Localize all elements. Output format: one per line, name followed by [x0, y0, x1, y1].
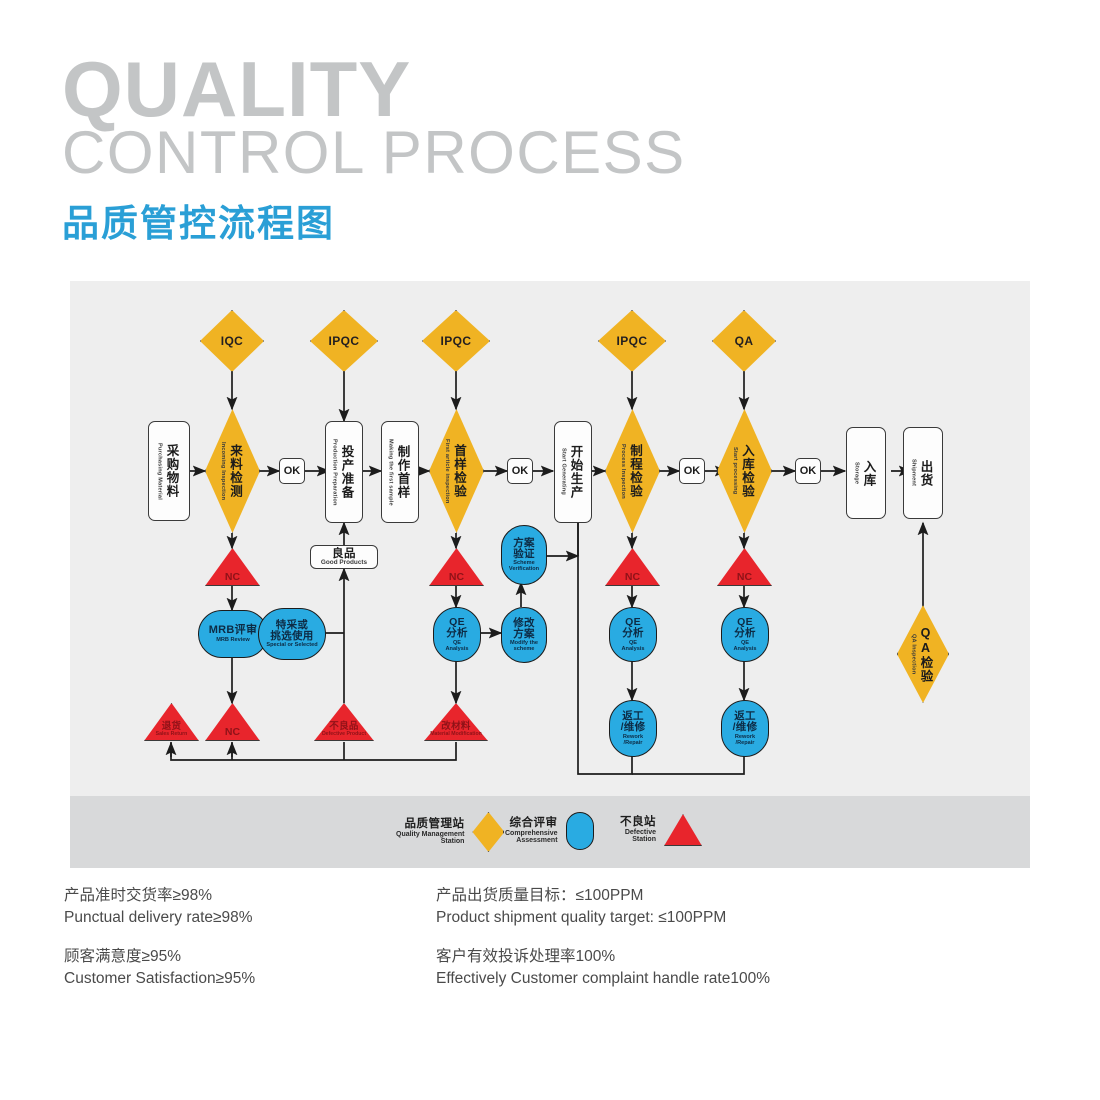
kpi-customer-satisfaction: 顾客满意度≥95% Customer Satisfaction≥95% [64, 946, 255, 990]
station-diamond-iqc[interactable]: IQC [200, 310, 264, 372]
title-line-chinese: 品质管控流程图 [62, 193, 686, 247]
capsule-label-en2: /Repair [736, 740, 755, 746]
defect-triangle-sales-return[interactable]: 退货 Sales Return [144, 703, 199, 741]
capsule-label-cn2: 验证 [513, 549, 535, 560]
capsule-label-en2: scheme [514, 646, 535, 652]
station-label: IPQC [310, 310, 378, 372]
triangle-text: NC [429, 572, 484, 583]
nc-triangle-3[interactable]: NC [429, 548, 484, 586]
station-diamond-ipqc-2[interactable]: IPQC [422, 310, 490, 372]
assessment-qe-analysis-2[interactable]: QE 分析 QE Analysis [609, 607, 657, 662]
diamond-label-cn: QA检验 [917, 626, 936, 683]
inspection-diamond-incoming[interactable]: 来料检测 Incoming Inspection [205, 409, 260, 533]
capsule-label-cn2: /维修 [733, 722, 758, 733]
triangle-text: 退货 Sales Return [144, 722, 199, 737]
vertical-text: 采购物料 Purchasing Material [157, 422, 182, 520]
box-label-cn: 制作首样 [394, 445, 413, 499]
triangle-text: NC [205, 727, 260, 738]
capsule-label-en2: Verification [509, 566, 539, 572]
ok-gate-2[interactable]: OK [507, 458, 533, 484]
capsule-label-cn2: 挑选使用 [270, 631, 313, 642]
capsule-label-cn2: 分析 [734, 628, 756, 639]
nc-label: NC [449, 572, 464, 583]
kpi-label-cn: 客户有效投诉处理率100% [436, 946, 770, 968]
nc-triangle-2[interactable]: NC [205, 703, 260, 741]
kpi-label-en: Product shipment quality target: ≤100PPM [436, 907, 726, 929]
nc-triangle-1[interactable]: NC [205, 548, 260, 586]
capsule-label-en2: Analysis [445, 646, 468, 652]
capsule-label-en: Special or Selected [266, 642, 317, 648]
legend-text: 品质管理站 Quality Management Station [396, 818, 464, 847]
ok-gate-3[interactable]: OK [679, 458, 705, 484]
legend-text: 综合评审 Comprehensive Assessment [505, 817, 558, 846]
process-box-start-generating[interactable]: 开始生产 Start Generating [554, 421, 592, 523]
assessment-qe-analysis-1[interactable]: QE 分析 QE Analysis [433, 607, 481, 662]
legend-item-comprehensive-assessment: 综合评审 Comprehensive Assessment [505, 812, 594, 850]
vertical-text: 制程检验 Process Inspection [605, 409, 660, 533]
assessment-rework-repair-2[interactable]: 返工 /维修 Rework /Repair [721, 700, 769, 757]
kpi-label-cn: 产品出货质量目标：≤100PPM [436, 885, 726, 907]
inspection-diamond-process[interactable]: 制程检验 Process Inspection [605, 409, 660, 533]
assessment-rework-repair-1[interactable]: 返工 /维修 Rework /Repair [609, 700, 657, 757]
vertical-text: 入库 Storage [854, 428, 879, 518]
process-box-production-preparation[interactable]: 投产准备 Production Preparation [325, 421, 363, 523]
kpi-complaint-handling: 客户有效投诉处理率100% Effectively Customer compl… [436, 946, 770, 990]
station-label: IPQC [422, 310, 490, 372]
process-box-shipment[interactable]: 出货 Shipment [903, 427, 943, 519]
inspection-diamond-first-article[interactable]: 首样检验 First article inspection [429, 409, 484, 533]
capsule-label-en: MRB Review [216, 637, 250, 643]
vertical-text: 开始生产 Start Generating [561, 422, 586, 522]
box-label-cn: 入库 [860, 460, 879, 487]
title-line-quality: QUALITY [62, 52, 686, 127]
ok-gate-4[interactable]: OK [795, 458, 821, 484]
legend-label-cn: 综合评审 [505, 817, 558, 830]
legend-label-en2: Station [620, 836, 656, 844]
defect-triangle-defective-product[interactable]: 不良品 Defective Product [314, 703, 374, 741]
kpi-punctual-delivery: 产品准时交货率≥98% Punctual delivery rate≥98% [64, 885, 253, 929]
process-box-purchasing-material[interactable]: 采购物料 Purchasing Material [148, 421, 190, 521]
kpi-label-cn: 产品准时交货率≥98% [64, 885, 253, 907]
process-box-making-first-sample[interactable]: 制作首样 Making the first sample [381, 421, 419, 523]
vertical-text: 首样检验 First article inspection [429, 409, 484, 533]
capsule-label-cn2: 分析 [622, 628, 644, 639]
legend-label-en1: Defective [620, 829, 656, 837]
triangle-text: 改材料 Material Modification [424, 722, 488, 737]
legend-label-cn: 品质管理站 [396, 818, 464, 831]
kpi-label-en: Effectively Customer complaint handle ra… [436, 968, 770, 990]
capsule-label-cn: MRB评审 [209, 625, 258, 637]
station-diamond-ipqc-1[interactable]: IPQC [310, 310, 378, 372]
box-label-cn: 采购物料 [163, 444, 182, 498]
defect-triangle-material-modification[interactable]: 改材料 Material Modification [424, 703, 488, 741]
ok-gate-1[interactable]: OK [279, 458, 305, 484]
legend-label-en2: Station [396, 838, 464, 846]
nc-label: NC [737, 572, 752, 583]
capsule-label-en2: Analysis [621, 646, 644, 652]
legend-text: 不良站 Defective Station [620, 816, 656, 845]
legend-item-defective-station: 不良站 Defective Station [620, 814, 702, 846]
legend-label-cn: 不良站 [620, 816, 656, 829]
nc-label: NC [625, 572, 640, 583]
triangle-icon [664, 814, 702, 846]
nc-triangle-4[interactable]: NC [605, 548, 660, 586]
title-line-control-process: CONTROL PROCESS [62, 123, 686, 183]
legend-label-en1: Quality Management [396, 831, 464, 839]
vertical-text: 投产准备 Production Preparation [332, 422, 357, 522]
nc-label: NC [225, 572, 240, 583]
vertical-text: 制作首样 Making the first sample [388, 422, 413, 522]
kpi-shipment-quality: 产品出货质量目标：≤100PPM Product shipment qualit… [436, 885, 726, 929]
kpi-label-en: Punctual delivery rate≥98% [64, 907, 253, 929]
triangle-label-en: Material Modification [430, 732, 482, 737]
box-label-cn: 出货 [917, 460, 936, 487]
station-label: IQC [200, 310, 264, 372]
vertical-text: 入库检验 Start processing [717, 409, 772, 533]
capsule-label-cn2: /维修 [621, 722, 646, 733]
station-label: QA [712, 310, 776, 372]
good-products-label-cn: 良品 [332, 548, 356, 560]
station-label: IPQC [598, 310, 666, 372]
triangle-label-en: Defective Product [322, 732, 366, 737]
kpi-label-en: Customer Satisfaction≥95% [64, 968, 255, 990]
vertical-text: 出货 Shipment [911, 428, 936, 518]
diamond-label-cn: 入库检验 [738, 444, 757, 498]
process-box-storage[interactable]: 入库 Storage [846, 427, 886, 519]
nc-triangle-5[interactable]: NC [717, 548, 772, 586]
capsule-label-cn2: 分析 [446, 628, 468, 639]
triangle-text: NC [717, 572, 772, 583]
assessment-special-or-selected[interactable]: 特采或 挑选使用 Special or Selected [258, 608, 326, 660]
station-diamond-qa[interactable]: QA [712, 310, 776, 372]
triangle-text: NC [605, 572, 660, 583]
capsule-label-en2: Analysis [733, 646, 756, 652]
diamond-label-cn: 制程检验 [626, 444, 645, 498]
capsule-label-en2: /Repair [624, 740, 643, 746]
station-diamond-ipqc-3[interactable]: IPQC [598, 310, 666, 372]
triangle-text: 不良品 Defective Product [314, 722, 374, 737]
box-label-cn: 投产准备 [338, 445, 357, 499]
vertical-text: 来料检测 Incoming Inspection [205, 409, 260, 533]
capsule-label-cn2: 方案 [513, 629, 535, 640]
diamond-icon [472, 812, 504, 852]
inspection-diamond-instore[interactable]: 入库检验 Start processing [717, 409, 772, 533]
good-products-label-en: Good Products [321, 560, 367, 567]
assessment-modify-scheme[interactable]: 修改 方案 Modify the scheme [501, 607, 547, 663]
legend-label-en2: Assessment [505, 837, 558, 845]
triangle-label-en: Sales Return [156, 732, 188, 737]
capsule-icon [566, 812, 594, 850]
nc-label: NC [225, 727, 240, 738]
triangle-text: NC [205, 572, 260, 583]
kpi-label-cn: 顾客满意度≥95% [64, 946, 255, 968]
inspection-diamond-qa[interactable]: QA检验 QA Inspection [897, 605, 949, 703]
box-label-cn: 开始生产 [567, 445, 586, 499]
diamond-label-cn: 来料检测 [226, 444, 245, 498]
legend-label-en1: Comprehensive [505, 830, 558, 838]
legend-item-quality-management-station: 品质管理站 Quality Management Station [396, 812, 504, 852]
good-products-box[interactable]: 良品 Good Products [310, 545, 378, 569]
diamond-label-cn: 首样检验 [450, 444, 469, 498]
page-title: QUALITY CONTROL PROCESS 品质管控流程图 [62, 52, 686, 247]
assessment-scheme-verification[interactable]: 方案 验证 Scheme Verification [501, 525, 547, 585]
assessment-qe-analysis-3[interactable]: QE 分析 QE Analysis [721, 607, 769, 662]
vertical-text: QA检验 QA Inspection [897, 605, 949, 703]
